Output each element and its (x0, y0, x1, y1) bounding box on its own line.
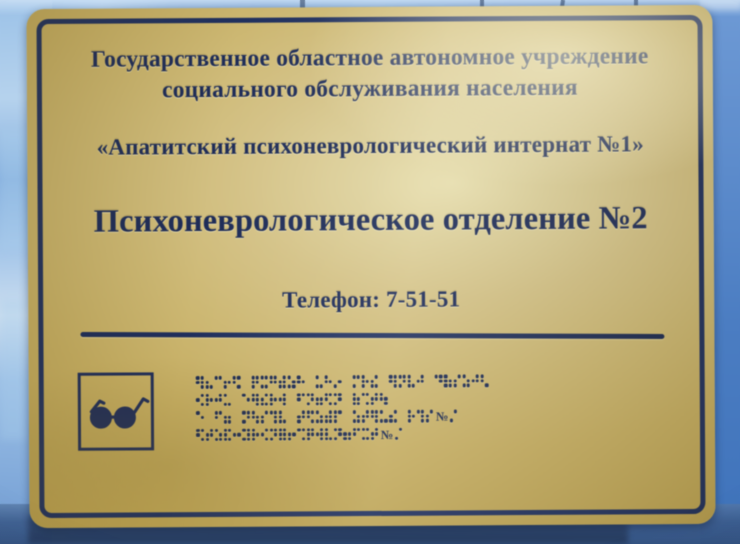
braille-dot (357, 397, 360, 400)
braille-dot (320, 402, 323, 405)
braille-dot (320, 415, 323, 418)
braille-dot (265, 376, 268, 379)
braille-dot (320, 428, 323, 431)
braille-dot (338, 433, 341, 436)
braille-cell (251, 393, 260, 408)
braille-dot (338, 380, 341, 383)
braille-dot (467, 384, 470, 387)
braille-dot (205, 398, 208, 401)
braille-dot (325, 437, 328, 440)
braille-cell (269, 376, 278, 391)
braille-dot (316, 411, 319, 414)
braille-dot (311, 393, 314, 396)
braille-dot (408, 410, 411, 413)
braille-dot (393, 380, 396, 383)
braille-dot (366, 415, 369, 418)
braille-cell (380, 392, 389, 407)
braille-dot (375, 397, 378, 400)
braille-cell (233, 428, 242, 443)
braille-dot (252, 429, 255, 432)
braille-dot (380, 397, 383, 400)
braille-dot (402, 380, 405, 383)
braille-dot (371, 415, 374, 418)
braille-cell (196, 376, 205, 391)
braille-dot (366, 402, 369, 405)
braille-cell (315, 375, 324, 390)
braille-dot (279, 415, 282, 418)
braille-dot (274, 411, 277, 414)
braille-dot (200, 385, 203, 388)
braille-dot (252, 438, 255, 441)
braille-dot (283, 428, 286, 431)
braille-dot (302, 428, 305, 431)
braille-dot (224, 403, 227, 406)
braille-cell (278, 376, 287, 391)
braille-dot (237, 376, 240, 379)
braille-dot (261, 403, 264, 406)
braille-dot (292, 385, 295, 388)
braille-dot (260, 385, 263, 388)
braille-dot (201, 438, 204, 441)
braille-dot (357, 415, 360, 418)
braille-dot (302, 411, 305, 414)
braille-dot (200, 381, 203, 384)
braille-dot (356, 375, 359, 378)
braille-dot (274, 428, 277, 431)
braille-dot (329, 437, 332, 440)
braille-dot (343, 433, 346, 436)
braille-dot (334, 393, 337, 396)
braille-cell (223, 376, 232, 391)
braille-dot (311, 398, 314, 401)
braille-dot (362, 415, 365, 418)
braille-dot (467, 379, 470, 382)
braille-cell (315, 428, 324, 443)
braille-dot (196, 433, 199, 436)
braille-dot (375, 415, 378, 418)
braille-dot (320, 433, 323, 436)
braille-dot (274, 380, 277, 383)
braille-dot (297, 420, 300, 423)
braille-cell (379, 375, 388, 390)
braille-dot (362, 428, 365, 431)
braille-dot (247, 429, 250, 432)
braille-dot (448, 384, 451, 387)
braille-dot (302, 437, 305, 440)
braille-dot (325, 415, 328, 418)
braille-dot (307, 428, 310, 431)
numero-sign: № (381, 427, 394, 441)
braille-cell (242, 411, 251, 426)
braille-dot (334, 411, 337, 414)
braille-cell (288, 375, 297, 390)
braille-dot (228, 381, 231, 384)
braille-dot (297, 376, 300, 379)
braille-dot (316, 420, 319, 423)
braille-cell (196, 429, 205, 444)
braille-dot (200, 403, 203, 406)
braille-dot (311, 433, 314, 436)
braille-dot (421, 415, 424, 418)
braille-dot (393, 419, 396, 422)
braille-dot (325, 433, 328, 436)
braille-dot (338, 398, 341, 401)
braille-dot (251, 385, 254, 388)
braille-cell (407, 375, 416, 390)
braille-dot (228, 420, 231, 423)
braille-dot (270, 393, 273, 396)
braille-dot (288, 385, 291, 388)
braille-dot (302, 415, 305, 418)
braille-dot (301, 393, 304, 396)
braille-dot (334, 420, 337, 423)
braille-cell (297, 410, 306, 425)
braille-cell (205, 428, 214, 443)
braille-dot (215, 416, 218, 419)
braille-dot (279, 433, 282, 436)
braille-dot (380, 419, 383, 422)
braille-dot (325, 420, 328, 423)
braille-dot (353, 432, 356, 435)
braille-dot (283, 402, 286, 405)
braille-cell (325, 428, 334, 443)
braille-cell (334, 428, 343, 443)
braille-cell (196, 394, 205, 409)
braille-dot (395, 437, 398, 440)
braille-dot (407, 380, 410, 383)
braille-dot (219, 376, 222, 379)
braille-dot (307, 415, 310, 418)
braille-dot (375, 384, 378, 387)
braille-dot (233, 376, 236, 379)
braille-cell (407, 410, 416, 425)
braille-dot (279, 385, 282, 388)
braille-cell (260, 393, 269, 408)
braille-dot (251, 376, 254, 379)
braille-dot (283, 420, 286, 423)
braille-dot (274, 376, 277, 379)
braille-dot (255, 376, 258, 379)
braille-dot (219, 438, 222, 441)
braille-dot (196, 398, 199, 401)
braille-dot (210, 385, 213, 388)
braille-dot (334, 415, 337, 418)
braille-cell (435, 375, 444, 390)
braille-dot (265, 438, 268, 441)
braille-dot (343, 437, 346, 440)
braille-cell (449, 409, 458, 424)
braille-line: № (196, 425, 706, 446)
braille-dot (338, 411, 341, 414)
braille-dot (233, 381, 236, 384)
braille-dot (320, 385, 323, 388)
braille-cell (223, 411, 232, 426)
braille-dot (435, 375, 438, 378)
organization-line-2: социального обслуживания населения (55, 72, 685, 107)
braille-cell (361, 428, 370, 443)
braille-cell (416, 410, 425, 425)
braille-dot (228, 429, 231, 432)
braille-cell (370, 410, 379, 425)
braille-dot (270, 376, 273, 379)
braille-dot (481, 379, 484, 382)
braille-dot (352, 410, 355, 413)
braille-dot (371, 410, 374, 413)
braille-dot (247, 433, 250, 436)
braille-dot (325, 376, 328, 379)
braille-dot (329, 415, 332, 418)
braille-dot (215, 438, 218, 441)
braille-dot (215, 429, 218, 432)
braille-cell (453, 374, 462, 389)
braille-cell (214, 376, 223, 391)
braille-dot (439, 379, 442, 382)
braille-dot (288, 437, 291, 440)
braille-cell (260, 376, 269, 391)
braille-dot (242, 438, 245, 441)
braille-dot (389, 415, 392, 418)
braille-dot (476, 375, 479, 378)
braille-dot (325, 398, 328, 401)
braille-dot (200, 376, 203, 379)
braille-dot (366, 437, 369, 440)
braille-dot (224, 420, 227, 423)
braille-cell (251, 428, 260, 443)
braille-dot (371, 437, 374, 440)
braille-dot (205, 385, 208, 388)
braille-dot (215, 411, 218, 414)
braille-dot (292, 380, 295, 383)
braille-dot (353, 428, 356, 431)
braille-dot (224, 381, 227, 384)
braille-cell (214, 393, 223, 408)
braille-dot (292, 433, 295, 436)
braille-dot (297, 398, 300, 401)
braille-dot (251, 394, 254, 397)
braille-dot (334, 428, 337, 431)
braille-dot (201, 416, 204, 419)
braille-dot (242, 420, 245, 423)
braille-dot (348, 433, 351, 436)
braille-dot (352, 384, 355, 387)
braille-cell (425, 375, 434, 390)
braille-cell (462, 374, 471, 389)
braille-cell (444, 375, 453, 390)
braille-dot (375, 428, 378, 431)
braille-cell (214, 411, 223, 426)
braille-cell (251, 376, 260, 391)
braille-dot (325, 393, 328, 396)
braille-dot (311, 420, 314, 423)
braille-dot (371, 402, 374, 405)
braille-dot (270, 398, 273, 401)
braille-cell (352, 410, 361, 425)
braille-dot (472, 379, 475, 382)
braille-cell (324, 375, 333, 390)
braille-dot (408, 419, 411, 422)
braille-dot (448, 379, 451, 382)
braille-dot (453, 379, 456, 382)
braille-cell (398, 410, 407, 425)
braille-cell (380, 410, 389, 425)
braille-dot (274, 415, 277, 418)
braille-dot (228, 416, 231, 419)
braille-cell (394, 427, 403, 442)
braille-dot (224, 433, 227, 436)
braille-dot (251, 416, 254, 419)
braille-dot (366, 428, 369, 431)
braille-dot (393, 384, 396, 387)
braille-dot (352, 397, 355, 400)
braille-dot (242, 394, 245, 397)
braille-dot (279, 411, 282, 414)
braille-dot (279, 428, 282, 431)
braille-dot (421, 419, 424, 422)
braille-cell (297, 375, 306, 390)
braille-dot (219, 433, 222, 436)
braille-dot (251, 398, 254, 401)
sign-text-content: Государственное областное автономное учр… (55, 27, 687, 317)
braille-dot (196, 429, 199, 432)
braille-dot (283, 380, 286, 383)
braille-dot (329, 411, 332, 414)
braille-dot (297, 380, 300, 383)
braille-dot (366, 393, 369, 396)
braille-cell (352, 375, 361, 390)
braille-cell (278, 393, 287, 408)
braille-dot (421, 410, 424, 413)
braille-dot (210, 433, 213, 436)
braille-cell (389, 410, 398, 425)
braille-dot (306, 402, 309, 405)
braille-cell (224, 428, 233, 443)
braille-dot (338, 393, 341, 396)
braille-dot (219, 398, 222, 401)
braille-dot (371, 432, 374, 435)
braille-dot (297, 415, 300, 418)
braille-cell (205, 393, 214, 408)
braille-dot (283, 433, 286, 436)
braille-dot (371, 397, 374, 400)
braille-dot (256, 416, 259, 419)
braille-cell (370, 375, 379, 390)
braille-dot (307, 433, 310, 436)
braille-dot (380, 410, 383, 413)
braille-dot (389, 419, 392, 422)
braille-dot (252, 433, 255, 436)
sign-photo-scene: Государственное областное автономное учр… (0, 0, 740, 544)
braille-dot (255, 394, 258, 397)
braille-dot (384, 402, 387, 405)
braille-dot (288, 376, 291, 379)
braille-dot (384, 397, 387, 400)
braille-dot (407, 384, 410, 387)
braille-dot (371, 384, 374, 387)
braille-dot (357, 419, 360, 422)
braille-dot (453, 384, 456, 387)
braille-dot (320, 398, 323, 401)
braille-dot (421, 380, 424, 383)
braille-dot (283, 376, 286, 379)
braille-dot (265, 403, 268, 406)
braille-cell (389, 375, 398, 390)
braille-cell (370, 392, 379, 407)
braille-cell (269, 393, 278, 408)
braille-dot (320, 437, 323, 440)
braille-dot (412, 415, 415, 418)
braille-cell (333, 375, 342, 390)
braille-dot (233, 433, 236, 436)
braille-cell (306, 428, 315, 443)
braille-cell (260, 411, 269, 426)
braille-dot (242, 429, 245, 432)
braille-dot (283, 398, 286, 401)
braille-cell (288, 410, 297, 425)
braille-dot (265, 394, 268, 397)
braille-dot (279, 420, 282, 423)
braille-dot (196, 381, 199, 384)
braille-dot (334, 437, 337, 440)
braille-dot (325, 428, 328, 431)
braille-cell (480, 374, 489, 389)
braille-cell (361, 410, 370, 425)
braille-dot (398, 375, 401, 378)
braille-dot (408, 415, 411, 418)
braille-cell (260, 428, 269, 443)
braille-dot (444, 379, 447, 382)
braille-dot (205, 403, 208, 406)
braille-dot (352, 375, 355, 378)
braille-cell (279, 428, 288, 443)
braille-dot (237, 433, 240, 436)
braille-dot (270, 402, 273, 405)
braille-dot (206, 433, 209, 436)
braille-dot (242, 411, 245, 414)
braille-cell (288, 428, 297, 443)
braille-dot (288, 433, 291, 436)
braille-dot (481, 375, 484, 378)
braille-cell (269, 428, 278, 443)
braille-dot (246, 398, 249, 401)
braille-dot (334, 402, 337, 405)
braille-dot (458, 375, 461, 378)
braille-dot (417, 380, 420, 383)
braille-dot (325, 380, 328, 383)
braille-dot (274, 420, 277, 423)
braille-dot (444, 375, 447, 378)
braille-dot (316, 402, 319, 405)
braille-cell (288, 393, 297, 408)
braille-dot (439, 375, 442, 378)
braille-dot (297, 428, 300, 431)
braille-cell (306, 410, 315, 425)
braille-dot (417, 410, 420, 413)
braille-dot (361, 375, 364, 378)
braille-dot (270, 411, 273, 414)
braille-dot (430, 410, 433, 413)
braille-dot (219, 394, 222, 397)
braille-dot (215, 398, 218, 401)
braille-dot (389, 380, 392, 383)
braille-dot (393, 410, 396, 413)
braille-dot (352, 402, 355, 405)
braille-cell (297, 393, 306, 408)
braille-dot (450, 419, 453, 422)
braille-dot (393, 375, 396, 378)
braille-dot (219, 411, 222, 414)
braille-cell (306, 375, 315, 390)
braille-cell (343, 428, 352, 443)
